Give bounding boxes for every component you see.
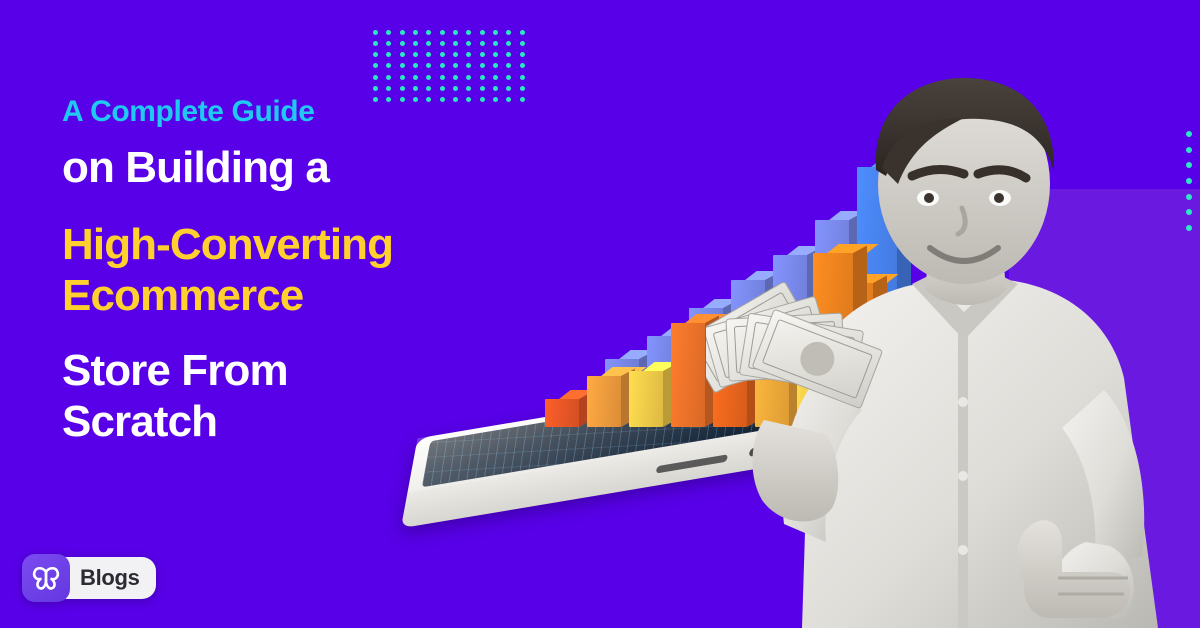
cash-fan: [706, 281, 883, 408]
brand-logo[interactable]: Blogs: [22, 554, 156, 602]
headline-block: A Complete Guide on Building a High-Conv…: [62, 96, 622, 447]
headline-line-5: Scratch: [62, 396, 622, 447]
banner-canvas: A Complete Guide on Building a High-Conv…: [0, 0, 1200, 628]
brand-logo-label: Blogs: [80, 565, 140, 591]
chart-bar: [671, 323, 705, 427]
person-illustration: [706, 72, 1200, 628]
headline-line-3: Ecommerce: [62, 270, 622, 321]
brand-logo-pill: Blogs: [56, 557, 156, 599]
chart-bar: [629, 371, 663, 427]
butterfly-icon: [22, 554, 70, 602]
butterfly-glyph: [31, 565, 61, 591]
headline-line-4: Store From: [62, 345, 622, 396]
headline-line-1: on Building a: [62, 142, 622, 193]
person-photo: [706, 72, 1200, 628]
eyebrow-text: A Complete Guide: [62, 96, 622, 128]
headline-line-2: High-Converting: [62, 219, 622, 270]
